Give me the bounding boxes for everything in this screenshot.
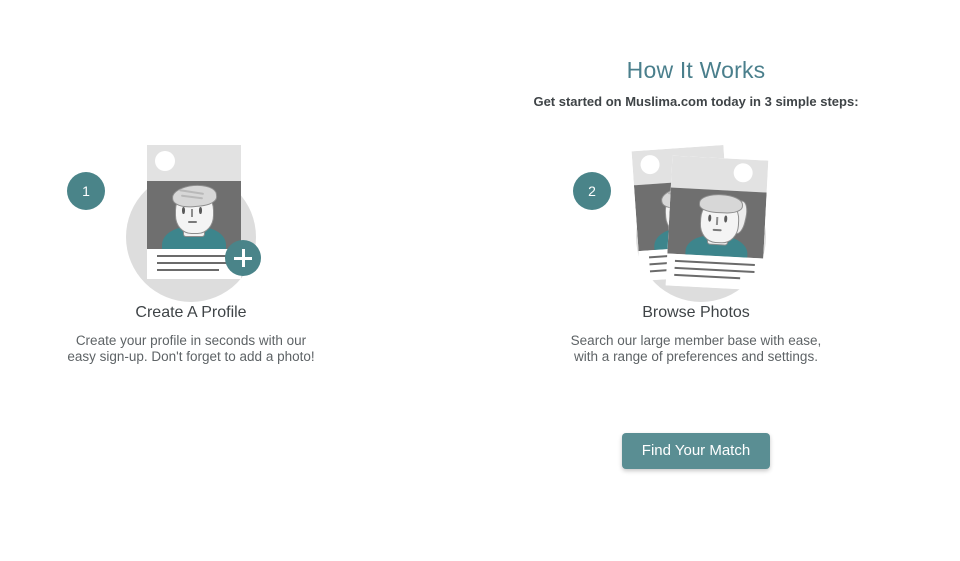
step-2-number-badge: 2: [573, 172, 611, 210]
figure-mouth: [188, 221, 197, 223]
card-text-line: [675, 260, 755, 266]
figure-nose: [191, 209, 193, 217]
step-2-description: Search our large member base with ease, …: [506, 333, 886, 365]
how-it-works-section: How It Works Get started on Muslima.com …: [0, 0, 960, 561]
step-1-caption: Create A Profile Create your profile in …: [1, 302, 381, 365]
step-1-description: Create your profile in seconds with our …: [1, 333, 381, 365]
card-text-line: [675, 267, 755, 273]
step-1-number-badge: 1: [67, 172, 105, 210]
page-subtitle: Get started on Muslima.com today in 3 si…: [476, 94, 916, 110]
card-photo-area: [667, 188, 766, 259]
profile-card-front: [666, 156, 769, 291]
step-2-heading: Browse Photos: [506, 302, 886, 324]
card-text-line: [157, 255, 231, 257]
step-1-heading: Create A Profile: [1, 302, 381, 324]
step-2-caption: Browse Photos Search our large member ba…: [506, 302, 886, 365]
figure-eye-left: [182, 207, 185, 214]
step-2-illustration: 2: [506, 140, 886, 290]
step-1-illustration: 1: [1, 140, 381, 290]
find-your-match-button[interactable]: Find Your Match: [622, 433, 770, 469]
figure-eye-right: [199, 207, 202, 214]
section-header: How It Works Get started on Muslima.com …: [476, 56, 916, 110]
card-text-line: [674, 274, 740, 279]
add-photo-icon[interactable]: [225, 240, 261, 276]
figure-mouth: [713, 229, 722, 231]
figure-hair: [699, 193, 744, 214]
step-2-description-line-1: Search our large member base with ease,: [506, 333, 886, 349]
card-header-band: [671, 156, 769, 193]
page-title: How It Works: [476, 56, 916, 84]
card-sun-icon: [155, 151, 175, 171]
card-text-lines: [666, 253, 764, 290]
cta-container: Find Your Match: [506, 433, 886, 469]
card-photo-area: [147, 181, 241, 249]
figure-nose: [716, 217, 718, 225]
step-1-description-line-2: easy sign-up. Don't forget to add a phot…: [1, 349, 381, 365]
step-create-a-profile: 1: [1, 140, 381, 290]
card-text-line: [157, 262, 231, 264]
step-2-description-line-2: with a range of preferences and settings…: [506, 349, 886, 365]
card-text-line: [157, 269, 219, 271]
step-1-description-line-1: Create your profile in seconds with our: [1, 333, 381, 349]
step-browse-photos: 2: [506, 140, 886, 290]
